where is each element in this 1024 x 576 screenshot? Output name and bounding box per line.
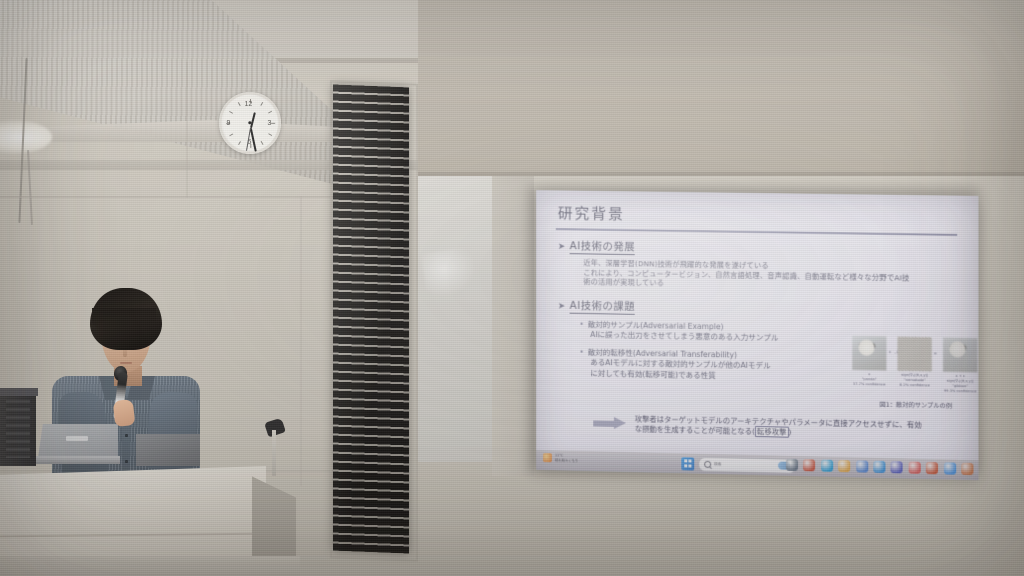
search-box[interactable]: 検索	[698, 456, 796, 473]
whiteboard-smudge	[421, 247, 479, 300]
bullet-dot-icon: •	[579, 320, 583, 329]
file-explorer-icon[interactable]	[838, 460, 850, 472]
highlight-transfer-attack: 転移攻撃	[755, 426, 789, 438]
floor	[0, 556, 300, 576]
task-view-icon[interactable]	[786, 459, 798, 471]
clock-numeral-9: 9	[227, 120, 231, 127]
wall-seam-vertical	[300, 196, 302, 486]
projection-screen: 研究背景 ➤AI技術の発展 近年、深層学習(DNN)技術が飛躍的な発展を遂げてい…	[536, 190, 978, 480]
bullet-dot-icon-2: •	[579, 348, 583, 357]
wall-clock: 12 3 6 9	[219, 92, 281, 154]
bullet-item-2: •敵対的転移性(Adversarial Transferability) あるA…	[579, 348, 850, 384]
slide-title: 研究背景	[558, 202, 625, 224]
section-heading-1: ➤AI技術の発展	[558, 238, 635, 254]
weather-widget[interactable]: 11°C 晴れ時々くもり	[543, 453, 578, 463]
powerpoint-icon[interactable]	[926, 462, 938, 474]
gooseneck-microphone-stand	[272, 430, 276, 476]
chrome-icon[interactable]	[944, 462, 956, 474]
taskbar-center-cluster: 検索	[681, 456, 796, 474]
weather-text: 11°C 晴れ時々くもり	[555, 453, 578, 462]
chevron-right-icon-2: ➤	[558, 302, 566, 312]
figure-operator-equals: =	[934, 351, 937, 356]
figure-panel-original-image	[852, 336, 886, 371]
equipment-rack-front	[6, 400, 30, 458]
laptop-logo	[66, 436, 88, 441]
upper-wall-band	[418, 0, 1024, 176]
figure-caption: 図1：敵対的サンプルの例	[856, 399, 975, 411]
figure-panel-3-caption: x + ε sign(∇ₓJ(θ,x,y)) "gibbon" 99.3% co…	[942, 374, 978, 395]
laptop-base	[36, 456, 120, 464]
zoom-icon[interactable]	[908, 462, 920, 474]
presenter-hair-fringe	[92, 308, 156, 334]
presentation-slide: 研究背景 ➤AI技術の発展 近年、深層学習(DNN)技術が飛躍的な発展を遂げてい…	[536, 190, 978, 460]
wall-seam-vertical-upper	[186, 62, 188, 198]
slack-icon[interactable]	[961, 463, 973, 475]
start-button[interactable]	[681, 457, 694, 470]
lecture-hall-photo: 12 3 6 9 研究背景 ➤AI技術の発展 近年、深層学習(DNN)技術が飛躍…	[0, 0, 1024, 576]
clock-numeral-12: 12	[245, 101, 253, 108]
whiteboard	[418, 176, 495, 462]
shirt-button	[125, 460, 128, 463]
section-1-body: 近年、深層学習(DNN)技術が飛躍的な発展を遂げている これにより、コンピュータ…	[583, 258, 963, 293]
wall-seam-horizontal	[0, 196, 340, 198]
clock-hour-hand	[250, 112, 256, 128]
laptop-screen	[38, 424, 118, 458]
equipment-rack-top	[0, 388, 38, 396]
weather-sun-icon	[543, 453, 552, 462]
search-placeholder: 検索	[714, 462, 721, 467]
teams-icon[interactable]	[891, 461, 903, 473]
mail-icon[interactable]	[873, 461, 885, 473]
widgets-icon[interactable]	[803, 459, 815, 471]
presenter-hand	[113, 399, 136, 427]
figure-panel-noise-image	[898, 337, 932, 372]
edge-icon[interactable]	[821, 460, 833, 472]
figure-panel-2-caption: sign(∇ₓJ(θ,x,y)) "nematode" 8.2% confide…	[897, 373, 933, 389]
store-icon[interactable]	[856, 460, 868, 472]
figure-panel-adversarial-image	[943, 337, 977, 372]
title-underline	[556, 228, 957, 235]
av-equipment-box	[136, 434, 200, 466]
shirt-button	[125, 434, 128, 437]
louver-frame	[330, 80, 418, 561]
taskbar-pinned-icons	[786, 459, 979, 476]
chevron-right-icon: ➤	[558, 242, 566, 252]
clock-face: 12 3 6 9	[223, 96, 278, 151]
bullet-item-1: •敵対的サンプル(Adversarial Example) AIに誤った出力をさ…	[579, 320, 844, 346]
clock-numeral-3: 3	[268, 120, 272, 127]
search-icon	[704, 460, 711, 467]
slide-conclusion: 攻撃者はターゲットモデルのアーキテクチャやパラメータに直接アクセスせずに、有効 …	[635, 414, 972, 442]
section-heading-2: ➤AI技術の課題	[558, 298, 635, 314]
figure-panel-1-caption: x "panda" 57.7% confidence	[851, 372, 887, 388]
arrow-right-icon	[593, 417, 627, 430]
